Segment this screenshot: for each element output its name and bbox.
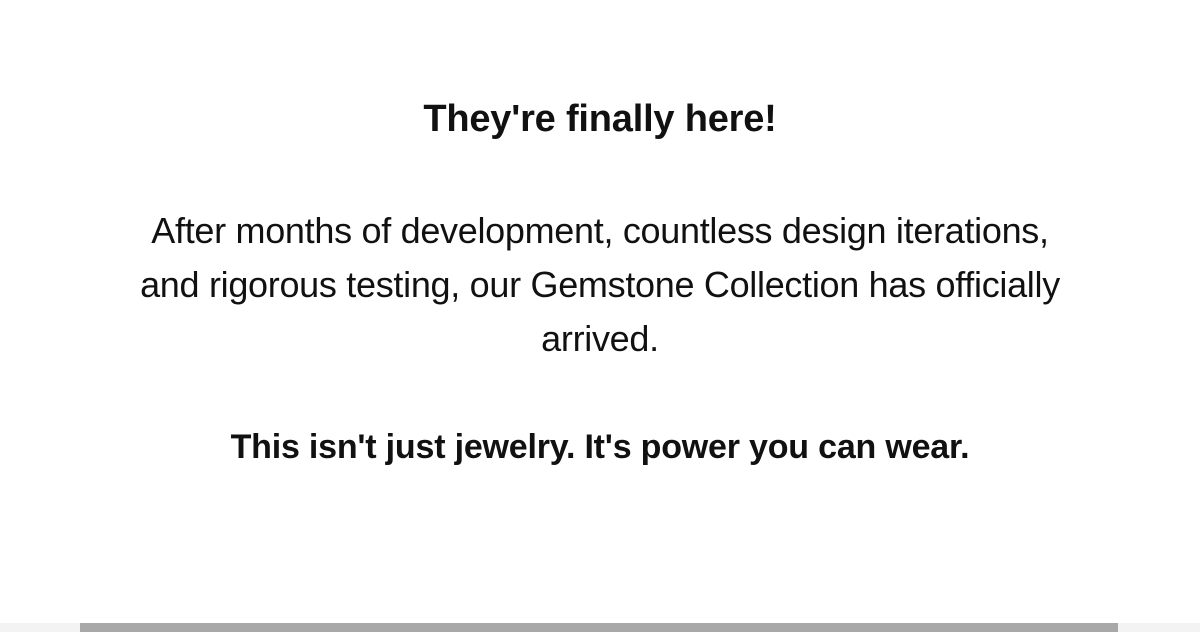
- message-container: They're finally here! After months of de…: [100, 0, 1100, 474]
- headline-text: They're finally here!: [100, 96, 1100, 142]
- body-paragraph: After months of development, countless d…: [120, 142, 1080, 366]
- horizontal-scrollbar-track[interactable]: [0, 623, 1200, 632]
- horizontal-scrollbar-thumb[interactable]: [80, 623, 1118, 632]
- closing-statement: This isn't just jewelry. It's power you …: [190, 420, 1010, 474]
- email-content-body: They're finally here! After months of de…: [0, 0, 1200, 623]
- paragraph-spacer: [100, 366, 1100, 420]
